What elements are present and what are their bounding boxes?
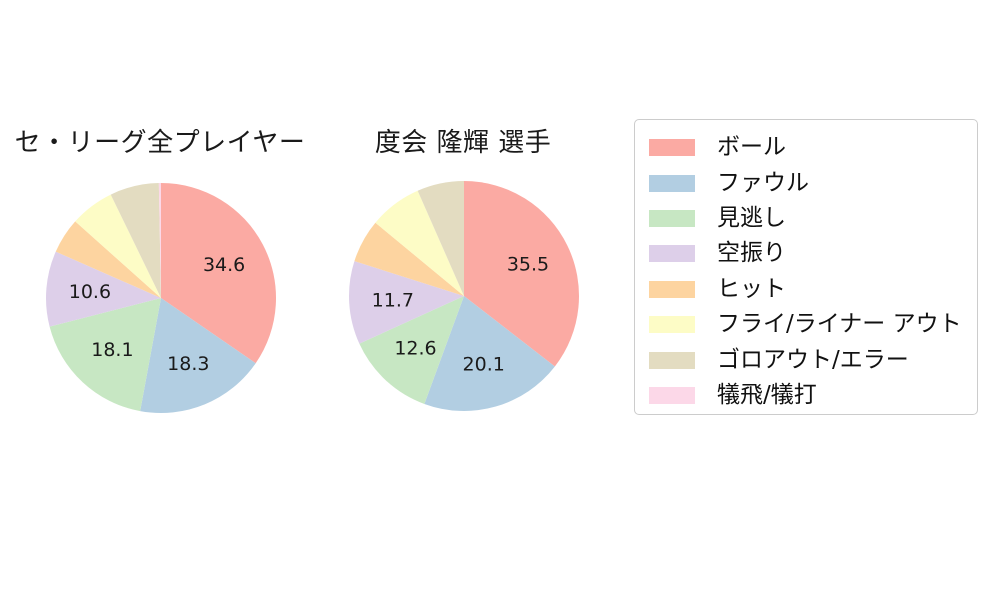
pie-chart-left: 34.618.318.110.6 xyxy=(45,182,277,414)
legend-item[interactable]: ヒット xyxy=(649,272,971,307)
legend-color-swatch xyxy=(649,139,695,156)
legend-color-swatch xyxy=(649,352,695,369)
chart-canvas: セ・リーグ全プレイヤー 度会 隆輝 選手 34.618.318.110.6 35… xyxy=(0,0,1000,600)
legend-item[interactable]: 見逃し xyxy=(649,201,971,236)
legend-item-label: フライ/ライナー アウト xyxy=(717,313,962,336)
legend-item-label: ボール xyxy=(717,136,786,159)
pie-slice-value-label: 12.6 xyxy=(394,337,436,359)
legend-item[interactable]: 犠飛/犠打 xyxy=(649,378,971,413)
legend-color-swatch xyxy=(649,387,695,404)
legend-item-label: 見逃し xyxy=(717,207,786,230)
legend-item-label: 空振り xyxy=(717,242,786,265)
legend-color-swatch xyxy=(649,210,695,227)
legend-color-swatch xyxy=(649,316,695,333)
legend-items: ボールファウル見逃し空振りヒットフライ/ライナー アウトゴロアウト/エラー犠飛/… xyxy=(649,130,971,413)
pie-chart-title-right: 度会 隆輝 選手 xyxy=(343,122,583,159)
pie-slice-value-label: 10.6 xyxy=(69,281,111,303)
pie-slice-value-label: 34.6 xyxy=(203,254,245,276)
pie-slice-value-label: 35.5 xyxy=(507,254,549,276)
legend-color-swatch xyxy=(649,245,695,262)
legend-item-label: ゴロアウト/エラー xyxy=(717,349,909,372)
legend-item[interactable]: ゴロアウト/エラー xyxy=(649,342,971,377)
legend-item[interactable]: ボール xyxy=(649,130,971,165)
pie-chart-title-left: セ・リーグ全プレイヤー xyxy=(10,122,310,159)
pie-slice-value-label: 18.1 xyxy=(91,339,133,361)
pie-chart-right: 35.520.112.611.7 xyxy=(348,180,580,412)
legend-item-label: 犠飛/犠打 xyxy=(717,384,817,407)
legend-color-swatch xyxy=(649,175,695,192)
legend-item[interactable]: 空振り xyxy=(649,236,971,271)
legend-item[interactable]: フライ/ライナー アウト xyxy=(649,307,971,342)
pie-slice-value-label: 11.7 xyxy=(372,289,414,311)
pie-slice-value-label: 20.1 xyxy=(463,354,505,376)
pie-left-svg: 34.618.318.110.6 xyxy=(45,182,277,414)
legend-color-swatch xyxy=(649,281,695,298)
legend-item-label: ヒット xyxy=(717,278,786,301)
pie-right-svg: 35.520.112.611.7 xyxy=(348,180,580,412)
pie-slice-value-label: 18.3 xyxy=(167,353,209,375)
legend-item[interactable]: ファウル xyxy=(649,165,971,200)
legend-item-label: ファウル xyxy=(717,172,809,195)
legend-box: ボールファウル見逃し空振りヒットフライ/ライナー アウトゴロアウト/エラー犠飛/… xyxy=(634,119,978,415)
